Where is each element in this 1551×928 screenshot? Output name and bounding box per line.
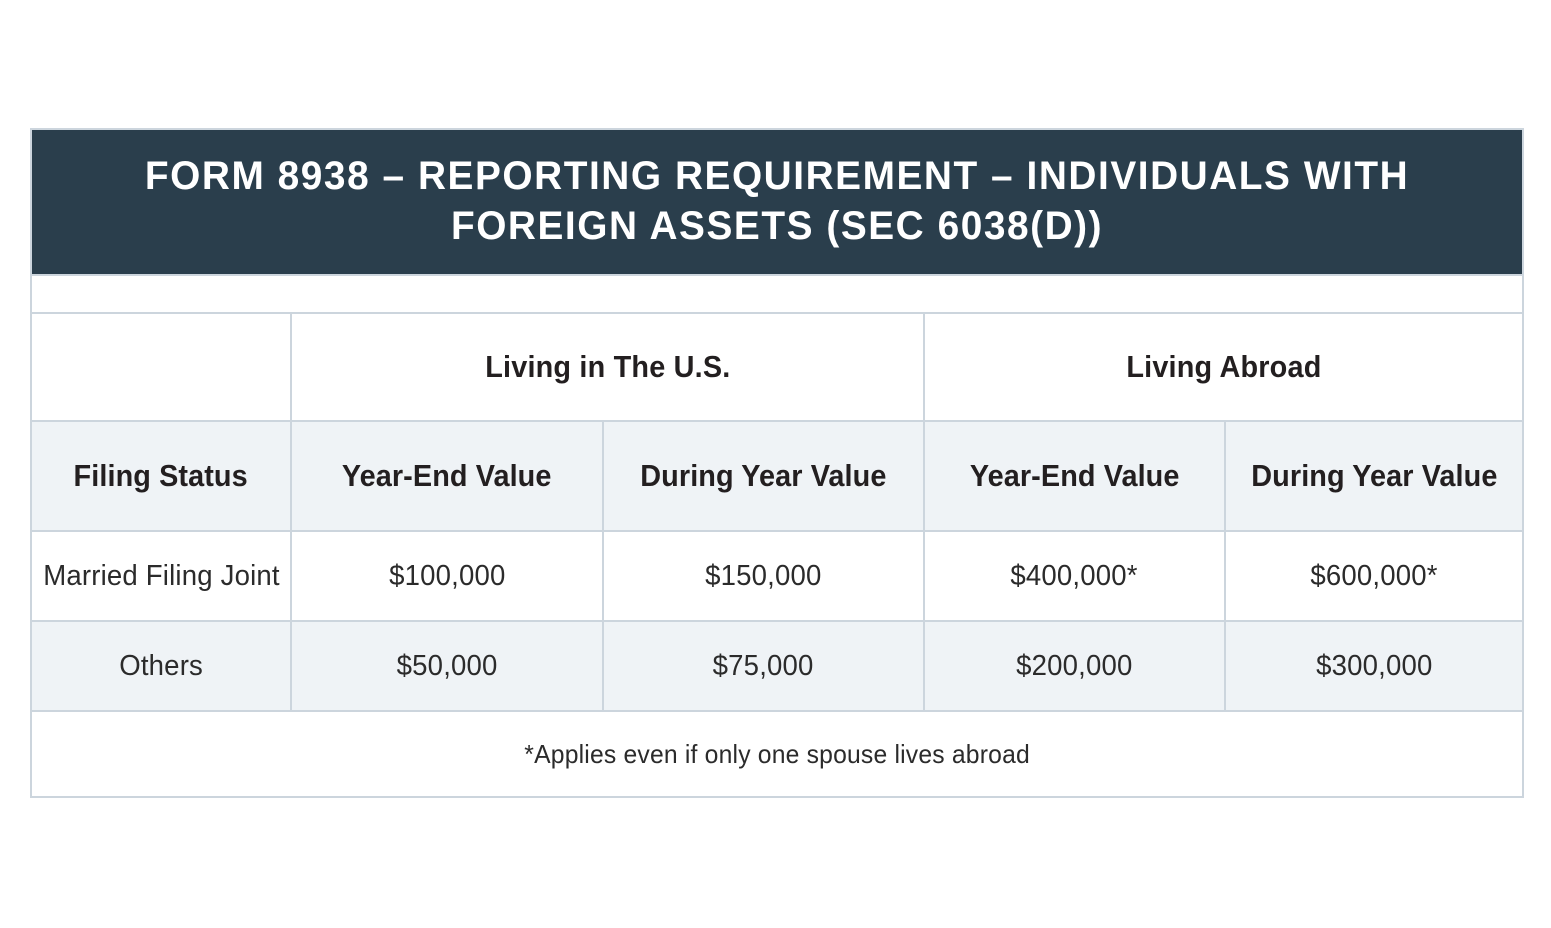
group-header-living-abroad: Living Abroad <box>924 313 1523 421</box>
cell-abroad-year-end: $400,000* <box>924 531 1225 621</box>
column-header-us-year-end-label: Year-End Value <box>342 458 552 494</box>
column-header-us-year-end: Year-End Value <box>291 421 603 531</box>
cell-us-during-year-value: $75,000 <box>713 650 814 683</box>
cell-us-during-year: $150,000 <box>603 531 924 621</box>
table-row: Married Filing Joint $100,000 $150,000 $… <box>31 531 1523 621</box>
cell-us-year-end-value: $50,000 <box>397 650 498 683</box>
column-header-filing-status-label: Filing Status <box>74 458 248 494</box>
column-header-row: Filing Status Year-End Value During Year… <box>31 421 1523 531</box>
group-header-living-in-us: Living in The U.S. <box>291 313 924 421</box>
column-header-abroad-year-end: Year-End Value <box>924 421 1225 531</box>
footnote-row: *Applies even if only one spouse lives a… <box>31 711 1523 797</box>
column-header-abroad-during-year: During Year Value <box>1225 421 1523 531</box>
group-header-row: Living in The U.S. Living Abroad <box>31 313 1523 421</box>
spacer-cell <box>31 275 1523 313</box>
spacer-row <box>31 275 1523 313</box>
page-title: FORM 8938 – REPORTING REQUIREMENT – INDI… <box>54 152 1499 251</box>
cell-abroad-year-end-value: $200,000 <box>1016 650 1132 683</box>
cell-filing-status-value: Married Filing Joint <box>43 560 280 593</box>
column-header-abroad-year-end-label: Year-End Value <box>970 458 1180 494</box>
column-header-abroad-during-year-label: During Year Value <box>1251 458 1497 494</box>
cell-us-during-year-value: $150,000 <box>705 560 821 593</box>
cell-abroad-during-year: $300,000 <box>1225 621 1523 711</box>
column-header-us-during-year-label: During Year Value <box>640 458 886 494</box>
cell-us-year-end: $50,000 <box>291 621 603 711</box>
cell-us-year-end: $100,000 <box>291 531 603 621</box>
group-header-living-abroad-label: Living Abroad <box>1126 349 1321 385</box>
cell-filing-status-value: Others <box>119 650 203 683</box>
title-row: FORM 8938 – REPORTING REQUIREMENT – INDI… <box>31 129 1523 275</box>
group-header-empty-cell <box>31 313 291 421</box>
cell-abroad-during-year-value: $600,000* <box>1310 560 1437 593</box>
cell-filing-status: Others <box>31 621 291 711</box>
form-8938-requirement-table: FORM 8938 – REPORTING REQUIREMENT – INDI… <box>30 128 1524 798</box>
cell-abroad-during-year-value: $300,000 <box>1316 650 1432 683</box>
column-header-filing-status: Filing Status <box>31 421 291 531</box>
table-row: Others $50,000 $75,000 $200,000 $300,000 <box>31 621 1523 711</box>
group-header-living-in-us-label: Living in The U.S. <box>485 349 730 385</box>
footnote-cell: *Applies even if only one spouse lives a… <box>31 711 1523 797</box>
form-8938-table-container: FORM 8938 – REPORTING REQUIREMENT – INDI… <box>30 128 1522 798</box>
cell-abroad-year-end-value: $400,000* <box>1011 560 1138 593</box>
cell-abroad-year-end: $200,000 <box>924 621 1225 711</box>
cell-us-during-year: $75,000 <box>603 621 924 711</box>
cell-us-year-end-value: $100,000 <box>389 560 505 593</box>
footnote-text: *Applies even if only one spouse lives a… <box>524 739 1030 770</box>
cell-filing-status: Married Filing Joint <box>31 531 291 621</box>
title-cell: FORM 8938 – REPORTING REQUIREMENT – INDI… <box>31 129 1523 275</box>
cell-abroad-during-year: $600,000* <box>1225 531 1523 621</box>
column-header-us-during-year: During Year Value <box>603 421 924 531</box>
